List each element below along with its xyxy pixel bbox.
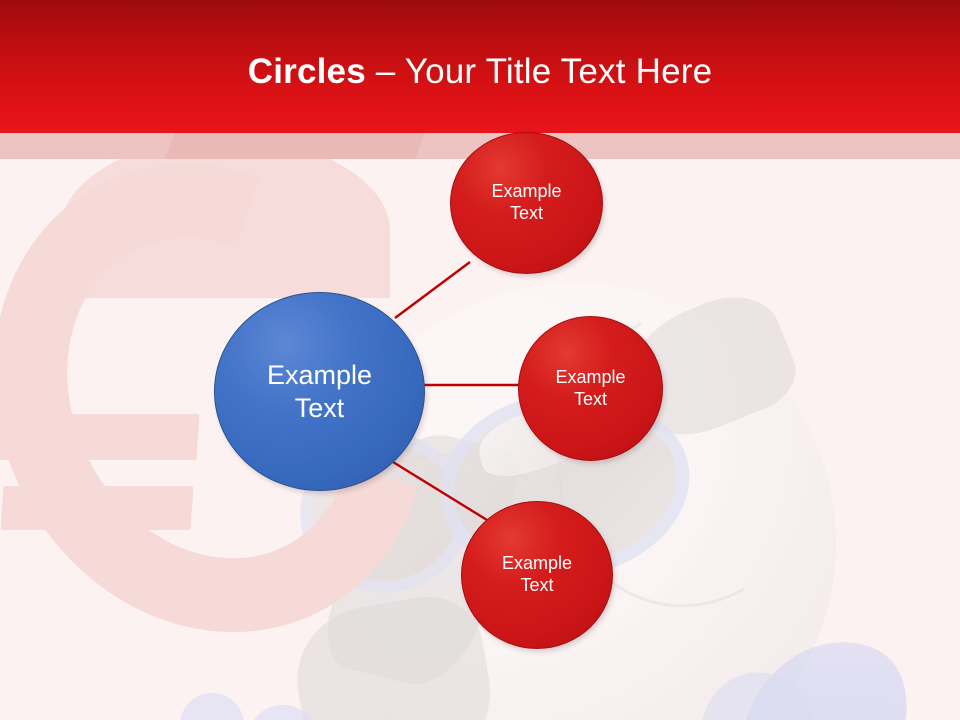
diagram-node-label: ExampleText [257,359,382,425]
diagram-node-label: ExampleText [481,181,571,225]
diagram-node-label: ExampleText [492,553,582,597]
diagram-node-spoke-2[interactable]: ExampleText [518,316,663,461]
connector-hub-spoke-1 [395,262,470,318]
diagram-node-spoke-3[interactable]: ExampleText [461,501,613,649]
connector-hub-spoke-3 [393,462,487,520]
diagram-node-spoke-1[interactable]: ExampleText [450,132,603,274]
diagram-node-label: ExampleText [545,367,635,411]
presentation-slide: Circles – Your Title Text Here ExampleTe… [0,0,960,720]
diagram-node-hub[interactable]: ExampleText [214,292,425,491]
